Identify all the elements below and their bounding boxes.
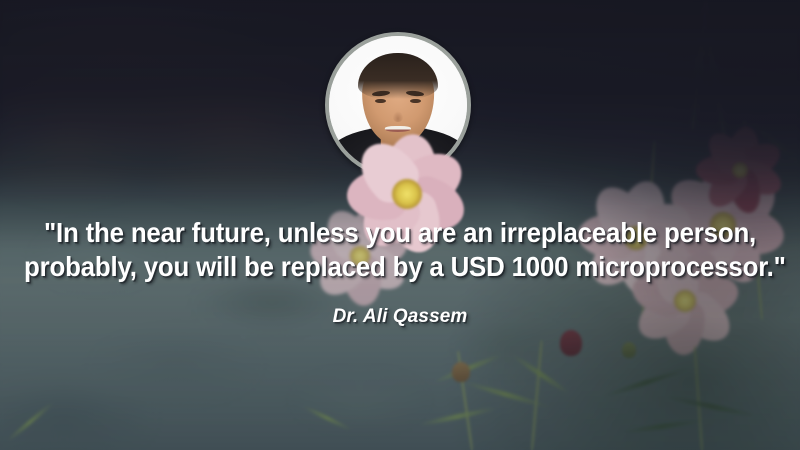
quote-line-1: "In the near future, unless you are an i… <box>24 216 776 250</box>
portrait-nose <box>392 111 403 122</box>
quote-line-2: probably, you will be replaced by a USD … <box>24 250 776 284</box>
avatar <box>325 32 471 178</box>
quote-card: "In the near future, unless you are an i… <box>0 0 800 450</box>
quote-author: Dr. Ali Qassem <box>0 306 800 328</box>
quote-text-block: "In the near future, unless you are an i… <box>0 216 800 284</box>
portrait-mouth <box>385 126 411 132</box>
avatar-portrait-image <box>329 36 467 174</box>
portrait-hair <box>358 53 438 100</box>
background-flower-magenta-right <box>690 120 790 220</box>
